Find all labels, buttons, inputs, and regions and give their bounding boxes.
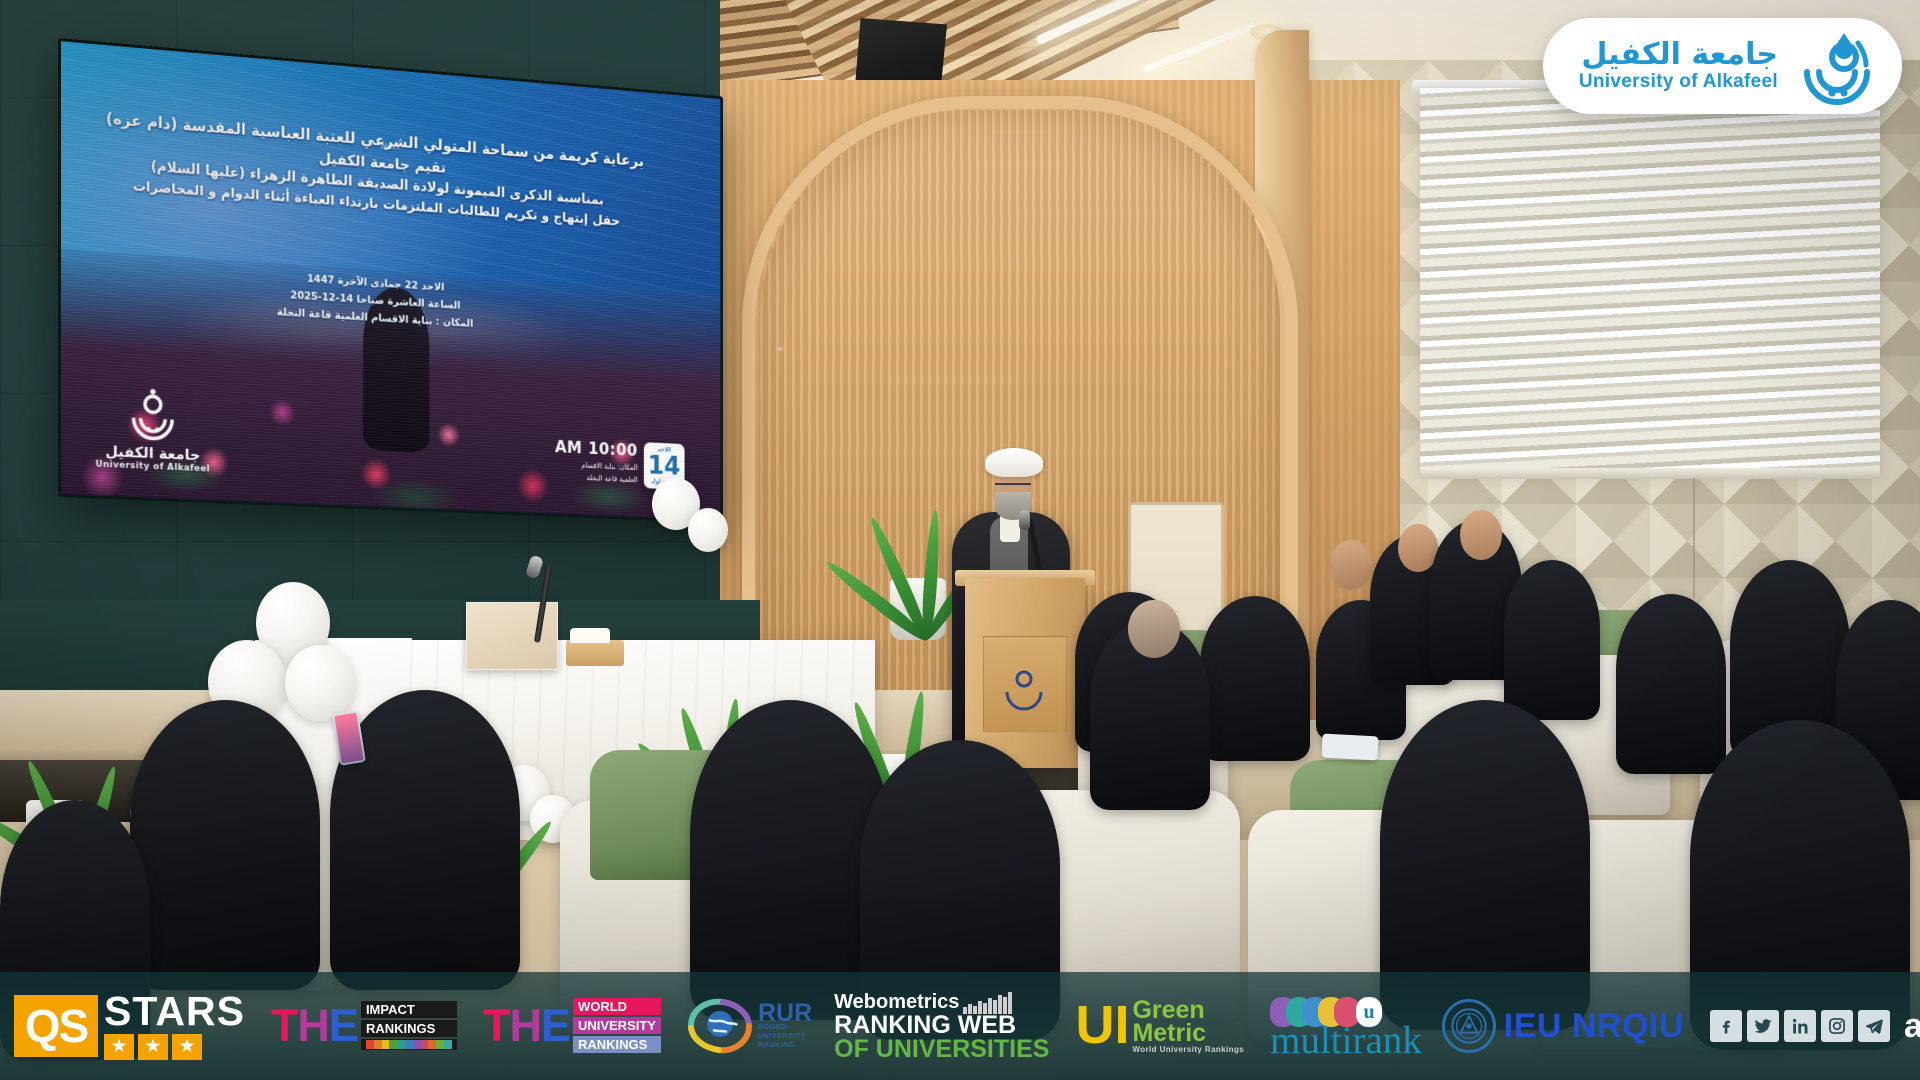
greenmetric-subtitle: World University Rankings — [1132, 1045, 1244, 1054]
the-letter-h: H — [297, 1008, 329, 1045]
rur-wordmark: RUR ROUND UNIVERSITY RANKING — [758, 1002, 812, 1051]
calendar-day: 14 — [644, 453, 685, 480]
rur-logo[interactable]: RUR ROUND UNIVERSITY RANKING — [687, 996, 812, 1056]
webometrics-line-2: RANKING WEB — [834, 1014, 1016, 1038]
led-place-line-2: العلمية قاعة النخلة — [555, 471, 638, 485]
ieu-nrqiu-text: IEU NRQIU — [1504, 1007, 1684, 1046]
slide-next-hint[interactable]: Next — [381, 142, 400, 151]
multirank-u: u — [1356, 997, 1382, 1027]
university-logo-badge: جامعة الكفيل University of Alkafeel — [1543, 18, 1902, 114]
the-letter-h: H — [509, 1008, 541, 1045]
attendee-front-row — [130, 700, 320, 990]
impact-stack: IMPACT RANKINGS — [361, 1001, 457, 1052]
facebook-icon[interactable] — [1710, 1010, 1742, 1042]
led-start-time: 10:00 AM — [555, 438, 638, 461]
attendee — [1616, 594, 1726, 774]
window-blind-bottomrail — [1420, 468, 1880, 479]
window-blind-cord[interactable] — [1693, 478, 1695, 598]
linkedin-icon[interactable] — [1784, 1010, 1816, 1042]
led-presentation-screen[interactable]: برعاية كريمة من سماحة المتولي الشرعي للع… — [60, 40, 721, 521]
podium-microphone-icon[interactable] — [1019, 510, 1030, 530]
world-stack: WORLD UNIVERSITY RANKINGS — [573, 998, 661, 1055]
star-icon: ★ — [172, 1034, 202, 1060]
podium-emblem-icon — [1000, 660, 1048, 712]
world-line-1: WORLD — [573, 998, 661, 1015]
screenshot-root: برعاية كريمة من سماحة المتولي الشرعي للع… — [0, 0, 1920, 1080]
rankings-banner: QS STARS ★ ★ ★ T H E IMPACT RANKINGS — [0, 972, 1920, 1080]
the-letters: T H E — [271, 1008, 358, 1045]
logo-arabic-name: جامعة الكفيل — [1579, 39, 1778, 71]
twitter-icon[interactable] — [1747, 1010, 1779, 1042]
qs-stars-word: STARS — [104, 992, 245, 1031]
ieu-seal-icon — [1442, 999, 1496, 1053]
multirank-word: multirank — [1270, 1025, 1422, 1056]
attendee-head — [1330, 540, 1372, 590]
social-handle: alkafeeleduiq — [1904, 1007, 1920, 1046]
phone-screen — [334, 713, 363, 764]
the-letter-e: E — [541, 1008, 570, 1045]
the-world-university-rankings-logo[interactable]: T H E WORLD UNIVERSITY RANKINGS — [483, 998, 661, 1055]
qs-stars-logo[interactable]: QS STARS ★ ★ ★ — [14, 992, 245, 1060]
social-icons[interactable] — [1710, 1010, 1890, 1042]
attendee — [1504, 560, 1600, 720]
attendee-head — [1460, 510, 1502, 560]
attendee — [1200, 596, 1310, 761]
the-letter-e: E — [329, 1008, 358, 1045]
ieu-nrqiu-logo[interactable]: IEU NRQIU — [1442, 999, 1684, 1053]
the-letters: T H E — [483, 1008, 570, 1045]
led-time-block: 10:00 AM المكان: بناية الاقسام العلمية ق… — [555, 438, 638, 486]
balloon — [688, 508, 728, 552]
star-icon: ★ — [138, 1034, 168, 1060]
ui-greenmetric-logo[interactable]: UI Green Metric World University Ranking… — [1075, 999, 1244, 1054]
smartphone[interactable] — [1321, 734, 1378, 761]
qs-right-group: STARS ★ ★ ★ — [104, 992, 245, 1060]
slide-advance-hint[interactable]: » — [777, 342, 784, 355]
ui-mark: UI — [1075, 1004, 1129, 1047]
tissue — [570, 628, 610, 643]
star-icon: ★ — [104, 1034, 134, 1060]
rur-sub-3: RANKING — [758, 1042, 812, 1051]
impact-line-1: IMPACT — [361, 1001, 457, 1018]
alkafeel-emblem-icon — [1800, 27, 1874, 105]
instagram-icon[interactable] — [1821, 1010, 1853, 1042]
balloon — [285, 645, 355, 721]
logo-english-name: University of Alkafeel — [1579, 71, 1778, 93]
rur-sub-2: UNIVERSITY — [758, 1033, 812, 1042]
world-line-3: RANKINGS — [573, 1036, 661, 1053]
logo-wordmark: جامعة الكفيل University of Alkafeel — [1579, 39, 1778, 94]
led-university-logo: جامعة الكفيل University of Alkafeel — [95, 380, 210, 475]
alkafeel-emblem-icon — [125, 381, 181, 441]
greenmetric-metric: Metric — [1132, 1022, 1244, 1045]
qs-star-row: ★ ★ ★ — [104, 1034, 245, 1060]
webometrics-line-3: OF UNIVERSITIES — [834, 1038, 1049, 1062]
glasses-icon — [995, 483, 1031, 490]
wooden-tissue-box[interactable] — [566, 640, 624, 666]
umultirank-logo[interactable]: u multirank — [1270, 995, 1422, 1056]
rur-abbr: RUR — [758, 1002, 812, 1025]
webometrics-logo[interactable]: Webometrics RANKING WEB OF UNIVERSITIES — [834, 991, 1049, 1062]
qs-mark: QS — [14, 995, 98, 1057]
the-letter-t: T — [483, 1008, 510, 1045]
world-line-2: UNIVERSITY — [573, 1017, 661, 1034]
telegram-icon[interactable] — [1858, 1010, 1890, 1042]
rur-globe-icon — [687, 996, 753, 1056]
sdg-color-bars — [361, 1039, 457, 1050]
led-screen-content: برعاية كريمة من سماحة المتولي الشرعي للع… — [60, 40, 721, 521]
speaker-turban — [985, 448, 1043, 477]
impact-line-2: RANKINGS — [361, 1020, 457, 1037]
window-blind[interactable] — [1420, 88, 1880, 473]
room-background: برعاية كريمة من سماحة المتولي الشرعي للع… — [0, 0, 1920, 1080]
attendee-head — [1128, 600, 1180, 658]
the-letter-t: T — [271, 1008, 298, 1045]
the-impact-rankings-logo[interactable]: T H E IMPACT RANKINGS — [271, 1001, 457, 1052]
greenmetric-wordmark: Green Metric World University Rankings — [1132, 999, 1244, 1054]
